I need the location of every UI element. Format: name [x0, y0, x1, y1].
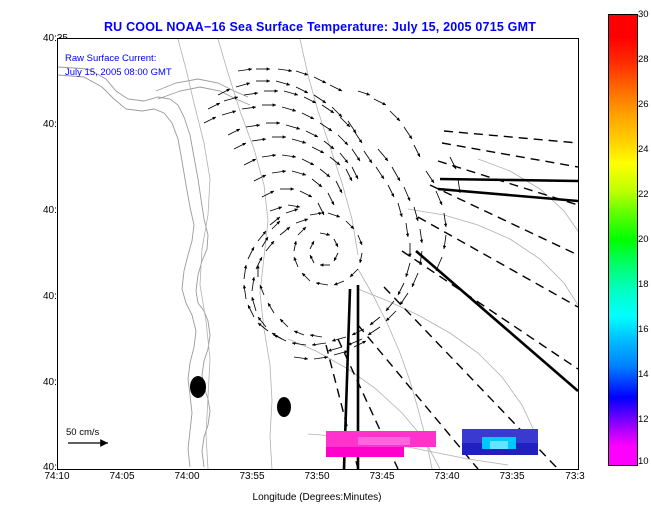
coastline: [58, 67, 250, 467]
x-axis-label: Longitude (Degrees:Minutes): [57, 492, 577, 503]
colorbar-tick-24: 24: [638, 144, 649, 155]
x-tick-3: 73:55: [222, 471, 282, 482]
colorbar-tick-22: 22: [638, 189, 649, 200]
map-plot-area: Raw Surface Current: July 15, 2005 08:00…: [57, 38, 579, 470]
surface-current-vectors: [204, 69, 460, 359]
colorbar-tick-28: 28: [638, 54, 649, 65]
x-tick-0: 74:10: [27, 471, 87, 482]
chart-title: RU COOL NOAA−16 Sea Surface Temperature:…: [60, 20, 580, 34]
x-tick-2: 74:00: [157, 471, 217, 482]
colorbar-tick-18: 18: [638, 279, 649, 290]
map-svg: [58, 39, 578, 469]
annotation-current-line1: Raw Surface Current:: [65, 53, 156, 64]
figure-root: RU COOL NOAA−16 Sea Surface Temperature:…: [0, 0, 651, 518]
colorbar-tick-12: 12: [638, 414, 649, 425]
bathymetry-contours: [178, 39, 578, 469]
x-tick-8: 73:3: [545, 471, 605, 482]
station-dots: [190, 376, 291, 417]
colorbar-tick-14: 14: [638, 369, 649, 380]
x-tick-6: 73:40: [417, 471, 477, 482]
colorbar-tick-30: 30: [638, 9, 649, 20]
annotation-current-line2: July 15, 2005 08:00 GMT: [65, 67, 172, 78]
x-tick-5: 73:45: [352, 471, 412, 482]
vector-scale-label: 50 cm/s: [66, 427, 99, 438]
x-tick-1: 74:05: [92, 471, 152, 482]
colorbar: [608, 14, 638, 466]
colorbar-tick-10: 10: [638, 456, 649, 467]
radar-beams-solid: [344, 179, 578, 469]
colorbar-tick-16: 16: [638, 324, 649, 335]
data-mask-patches: [326, 429, 538, 457]
x-tick-4: 73:50: [287, 471, 347, 482]
colorbar-tick-26: 26: [638, 99, 649, 110]
colorbar-tick-20: 20: [638, 234, 649, 245]
x-tick-7: 73:35: [482, 471, 542, 482]
